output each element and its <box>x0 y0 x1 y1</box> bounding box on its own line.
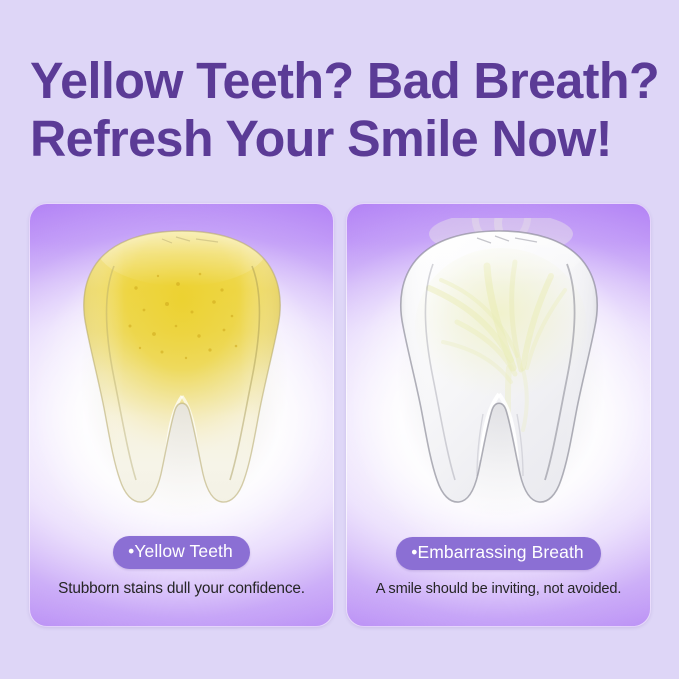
page-title: Yellow Teeth? Bad Breath? Refresh Your S… <box>30 52 655 168</box>
card-subtitle: A smile should be inviting, not avoided. <box>357 581 640 599</box>
headline-line-2: Refresh Your Smile Now! <box>30 110 646 168</box>
card-caption-block: •Yellow Teeth Stubborn stains dull your … <box>30 536 333 598</box>
card-embarrassing-breath[interactable]: •Embarrassing Breath A smile should be i… <box>346 203 651 627</box>
status-badge: •Yellow Teeth <box>113 536 250 569</box>
status-badge: •Embarrassing Breath <box>396 537 601 570</box>
promo-poster: Yellow Teeth? Bad Breath? Refresh Your S… <box>0 0 679 679</box>
card-caption-block: •Embarrassing Breath A smile should be i… <box>347 537 650 598</box>
yellow-tooth-icon <box>66 218 298 518</box>
card-yellow-teeth[interactable]: •Yellow Teeth Stubborn stains dull your … <box>29 203 334 627</box>
clear-tooth-odor-icon <box>383 218 615 518</box>
headline-line-1: Yellow Teeth? Bad Breath? <box>30 52 646 110</box>
comparison-cards: •Yellow Teeth Stubborn stains dull your … <box>29 203 651 627</box>
card-subtitle: Stubborn stains dull your confidence. <box>40 580 323 598</box>
